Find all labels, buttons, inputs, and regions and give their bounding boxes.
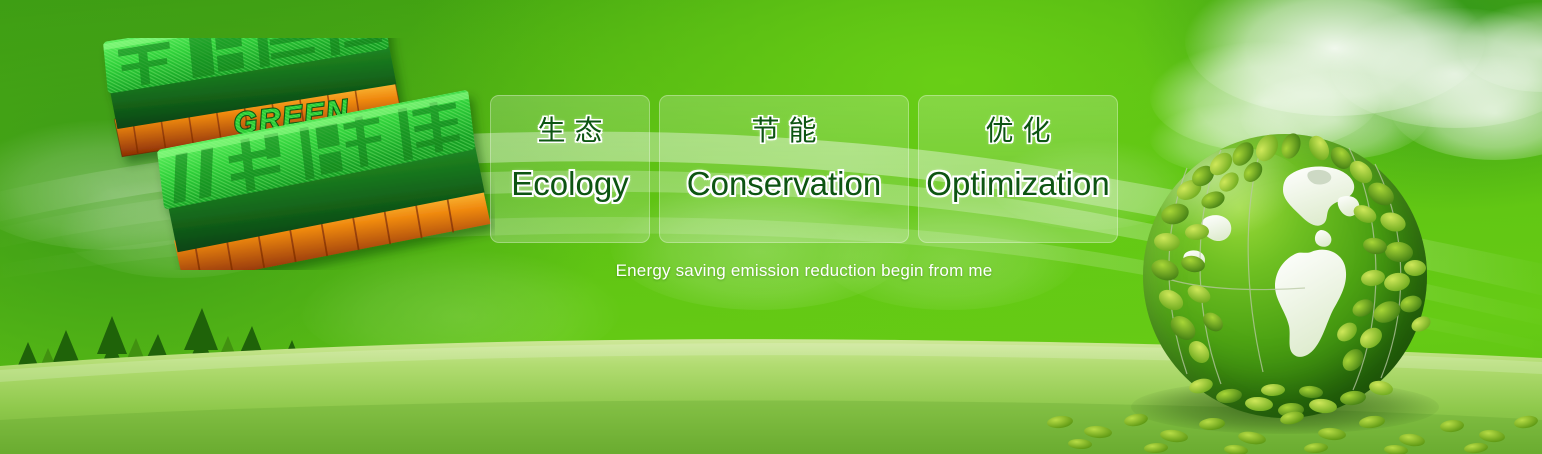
feature-cards: 生态 Ecology 节能 Conservation 优化 Optimizati…: [490, 95, 1118, 243]
energy-saving-emission-reduction-logo: GREEN GREEN: [95, 38, 495, 270]
card-optimization-cn: 优化: [976, 117, 1059, 145]
card-conservation[interactable]: 节能 Conservation: [659, 95, 909, 243]
card-ecology[interactable]: 生态 Ecology: [490, 95, 650, 243]
scattered-leaves: [1040, 392, 1542, 454]
eco-banner: GREEN GREEN: [0, 0, 1542, 454]
tagline: Energy saving emission reduction begin f…: [490, 261, 1118, 281]
card-optimization[interactable]: 优化 Optimization: [918, 95, 1118, 243]
card-optimization-en: Optimization: [926, 167, 1109, 200]
card-conservation-cn: 节能: [742, 117, 825, 145]
card-ecology-cn: 生态: [528, 117, 611, 145]
card-conservation-en: Conservation: [687, 167, 881, 200]
card-ecology-en: Ecology: [511, 167, 628, 200]
